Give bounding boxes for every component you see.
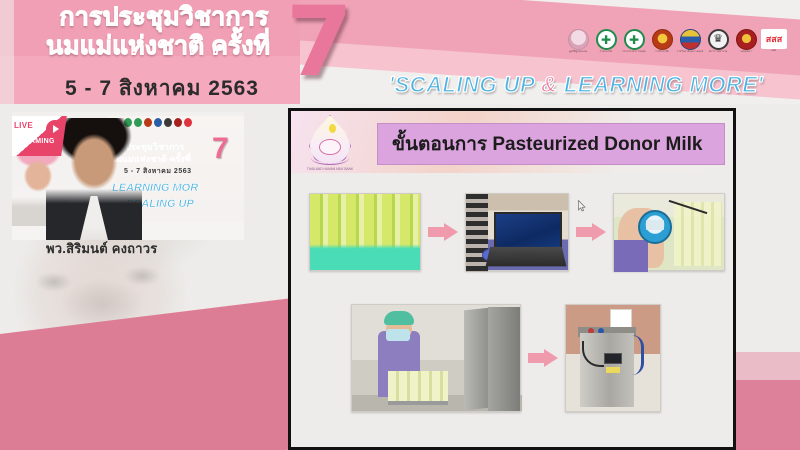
video-banner-logo-7	[174, 118, 182, 127]
thai-pediatric-caption: ราชวิทยาลัยกุมารแพทย์	[677, 51, 704, 54]
nurse-photo-cap	[384, 311, 414, 325]
thermometer-photo-sleeve	[614, 240, 648, 272]
medical-council-logo: แพทยสภา	[734, 29, 758, 55]
medical-council-caption: แพทยสภา	[740, 51, 751, 54]
live-badge-label: LIVE	[14, 121, 33, 130]
photo-laptop-data-entry	[465, 193, 569, 271]
organization-logo-row: มูลนิธิศูนย์นมแม่ ✚ กรมอนามัย ✚ กระทรวงส…	[566, 29, 786, 55]
photo-milk-bottles-racks	[309, 193, 421, 271]
header-left-edge	[0, 0, 14, 104]
ministry-caption: กรมอนามัย	[600, 51, 613, 54]
play-icon[interactable]	[46, 120, 64, 138]
pasteurizer-photo-sign	[610, 309, 632, 329]
process-arrow-3	[521, 349, 565, 367]
conference-slogan: 'SCALING UP & LEARNING MORE'	[360, 72, 792, 98]
thaihealth-sss-icon: สสส	[761, 29, 787, 49]
milk-drop-dot-icon	[329, 124, 336, 133]
conference-dates: 5 - 7 สิงหาคม 2563	[26, 72, 298, 105]
conference-header: การประชุมวิชาการ นมแม่แห่งชาติ ครั้งที่ …	[0, 0, 800, 104]
department-health-logo: ✚ กระทรวงสาธารณสุข	[622, 29, 646, 55]
conference-title-line2: นมแม่แห่งชาติ ครั้งที่	[16, 33, 300, 61]
right-band-light	[728, 352, 800, 382]
live-badge-sublabel: STREAMING	[12, 138, 55, 145]
process-arrow-2	[569, 223, 613, 241]
royal-college-logo: ราชวิทยาลัย	[650, 29, 674, 55]
ministry-public-health-icon: ✚	[596, 29, 617, 50]
nurse-photo-machine-door	[464, 308, 490, 411]
hands-icon	[311, 151, 349, 165]
pasteurizer-photo-display	[604, 353, 622, 364]
mouse-cursor	[578, 200, 586, 212]
presentation-slide-panel: THAILAND HUMAN MILK BANK ขั้นตอนการ Past…	[288, 108, 736, 450]
photo-pasteurizer-machine	[565, 304, 661, 412]
photo-nurse-loading-pasteurizer	[351, 304, 521, 412]
video-banner-logo-6	[164, 118, 172, 127]
slogan-suffix: LEARNING MORE'	[557, 72, 763, 97]
nursing-council-icon: ♛	[708, 29, 729, 50]
department-caption: กระทรวงสาธารณสุข	[622, 51, 645, 54]
milk-bank-logo-caption: THAILAND HUMAN MILK BANK	[299, 167, 361, 171]
nurse-photo-bottle-tray	[388, 371, 448, 405]
royal-emblem-logo: มูลนิธิศูนย์นมแม่	[566, 29, 590, 55]
laptop-photo-mouse	[482, 248, 504, 262]
right-pink-band	[728, 380, 800, 450]
slogan-prefix: 'SCALING UP	[389, 72, 541, 97]
thaihealth-caption: สสส.	[771, 50, 776, 53]
nursing-council-logo: ♛ สภาการพยาบาล	[706, 29, 730, 55]
laptop-photo-strip	[466, 194, 488, 272]
process-arrow-1	[421, 223, 465, 241]
process-row-2	[351, 297, 731, 419]
human-milk-bank-logo: THAILAND HUMAN MILK BANK	[299, 115, 361, 177]
conference-edition-number: 7	[286, 0, 353, 90]
royal-emblem-icon	[568, 29, 589, 50]
thaihealth-sss-logo: สสส สสส.	[762, 29, 786, 55]
video-banner-logo-8	[184, 118, 192, 127]
slide-title: ขั้นตอนการ Pasteurized Donor Milk	[377, 123, 725, 165]
process-row-1	[309, 189, 727, 275]
pasteurizer-photo-hose	[632, 335, 644, 375]
medical-council-icon	[736, 29, 757, 50]
slide-screenshot: การประชุมวิชาการ นมแม่แห่งชาติ ครั้งที่ …	[0, 0, 800, 450]
nurse-photo-machine	[488, 307, 520, 411]
nurse-photo-mask	[386, 329, 410, 341]
royal-emblem-caption: มูลนิธิศูนย์นมแม่	[569, 51, 587, 54]
pasteurizer-photo-sticker	[606, 367, 620, 373]
conference-title-line1: การประชุมวิชาการ	[26, 4, 302, 32]
thai-pediatric-icon	[680, 29, 701, 50]
speaker-name-label: พว.สิริมนต์ คงถาวร	[46, 238, 157, 259]
department-health-icon: ✚	[624, 29, 645, 50]
live-video-inset[interactable]: การประชุมวิชาการ นมแม่แห่งชาติ ครั้งที่ …	[12, 112, 244, 240]
video-banner-logo-5	[154, 118, 162, 127]
ministry-public-health-logo: ✚ กรมอนามัย	[594, 29, 618, 55]
slogan-ampersand: &	[541, 72, 557, 97]
thai-pediatric-logo: ราชวิทยาลัยกุมารแพทย์	[678, 29, 702, 55]
royal-college-caption: ราชวิทยาลัย	[655, 51, 669, 54]
video-banner-logo-4	[144, 118, 152, 127]
photo-handheld-thermometer	[613, 193, 725, 271]
nursing-council-caption: สภาการพยาบาล	[709, 51, 728, 54]
thermometer-photo-display	[646, 220, 664, 230]
royal-college-icon	[652, 29, 673, 50]
video-banner-number: 7	[212, 134, 229, 164]
